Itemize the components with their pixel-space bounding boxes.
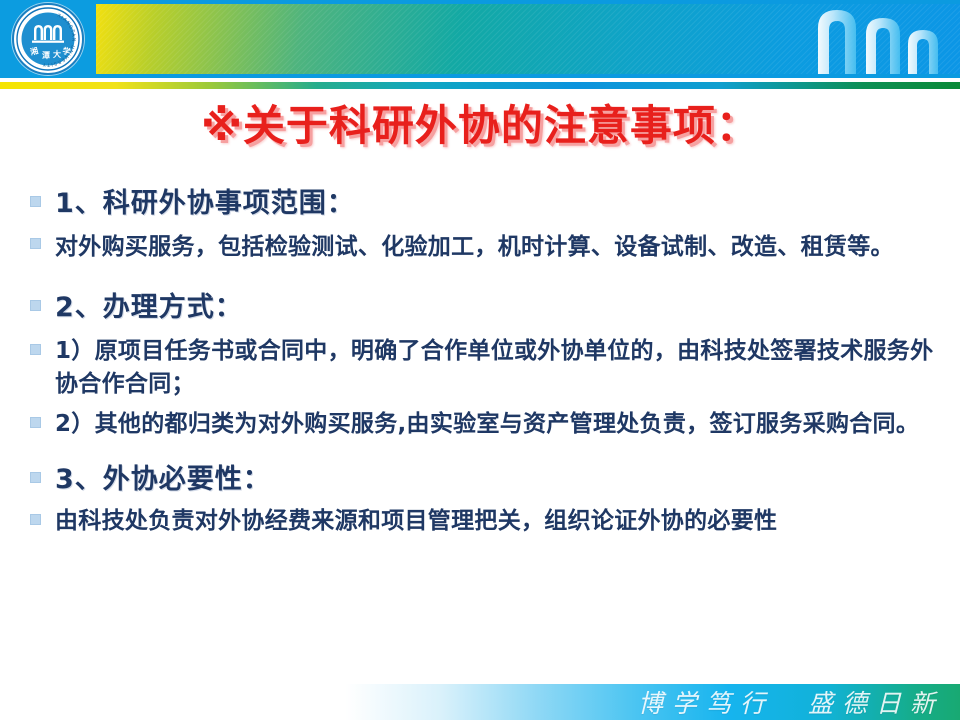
university-seal-icon: XIANGTAN UNIVERSITY 湘 潭 大 学: [12, 3, 84, 75]
bullet-square-icon: [30, 238, 41, 249]
bullet-square-icon: [30, 472, 41, 483]
svg-text:大: 大: [53, 49, 61, 59]
slide-title: ※关于科研外协的注意事项：: [0, 92, 960, 153]
slide-canvas: XIANGTAN UNIVERSITY 湘 潭 大 学: [0, 0, 960, 720]
svg-text:潭: 潭: [42, 50, 50, 60]
bullet-square-icon: [30, 196, 41, 207]
university-logo: XIANGTAN UNIVERSITY 湘 潭 大 学: [0, 0, 96, 78]
motto-right: 盛德日新: [808, 684, 944, 720]
university-arches-icon: [804, 4, 954, 74]
bullet-square-icon: [30, 417, 41, 428]
slide-body: 1、科研外协事项范围： 对外购买服务，包括检验测试、化验加工，机时计算、设备试制…: [30, 185, 945, 615]
list-item: 1、科研外协事项范围：: [30, 185, 945, 223]
university-motto: 博学笃行 盛德日新: [638, 686, 944, 718]
bullet-square-icon: [30, 514, 41, 525]
list-item: 3、外协必要性：: [30, 461, 945, 499]
slide-header: XIANGTAN UNIVERSITY 湘 潭 大 学: [0, 0, 960, 78]
list-item: 1）原项目任务书或合同中，明确了合作单位或外协单位的，由科技处签署技术服务外协合…: [30, 335, 945, 400]
bullet-square-icon: [30, 300, 41, 311]
bullet-square-icon: [30, 344, 41, 355]
list-item: 对外购买服务，包括检验测试、化验加工，机时计算、设备试制、改造、租赁等。: [30, 229, 945, 266]
section-heading-1: 1、科研外协事项范围：: [55, 185, 355, 223]
list-item: 由科技处负责对外协经费来源和项目管理把关，组织论证外协的必要性: [30, 505, 945, 538]
section-body-1: 对外购买服务，包括检验测试、化验加工，机时计算、设备试制、改造、租赁等。: [55, 229, 894, 266]
motto-left: 博学笃行: [638, 684, 774, 720]
list-item: 2、办理方式：: [30, 289, 945, 327]
section-body-2b: 2）其他的都归类为对外购买服务,由实验室与资产管理处负责，签订服务采购合同。: [55, 408, 919, 441]
slide-footer: 博学笃行 盛德日新: [0, 684, 960, 720]
header-divider-rule: [0, 82, 960, 89]
section-body-2a: 1）原项目任务书或合同中，明确了合作单位或外协单位的，由科技处签署技术服务外协合…: [55, 335, 945, 400]
section-heading-2: 2、办理方式：: [55, 289, 243, 327]
list-item: 2）其他的都归类为对外购买服务,由实验室与资产管理处负责，签订服务采购合同。: [30, 408, 945, 441]
section-body-3: 由科技处负责对外协经费来源和项目管理把关，组织论证外协的必要性: [55, 505, 777, 538]
section-heading-3: 3、外协必要性：: [55, 461, 271, 499]
